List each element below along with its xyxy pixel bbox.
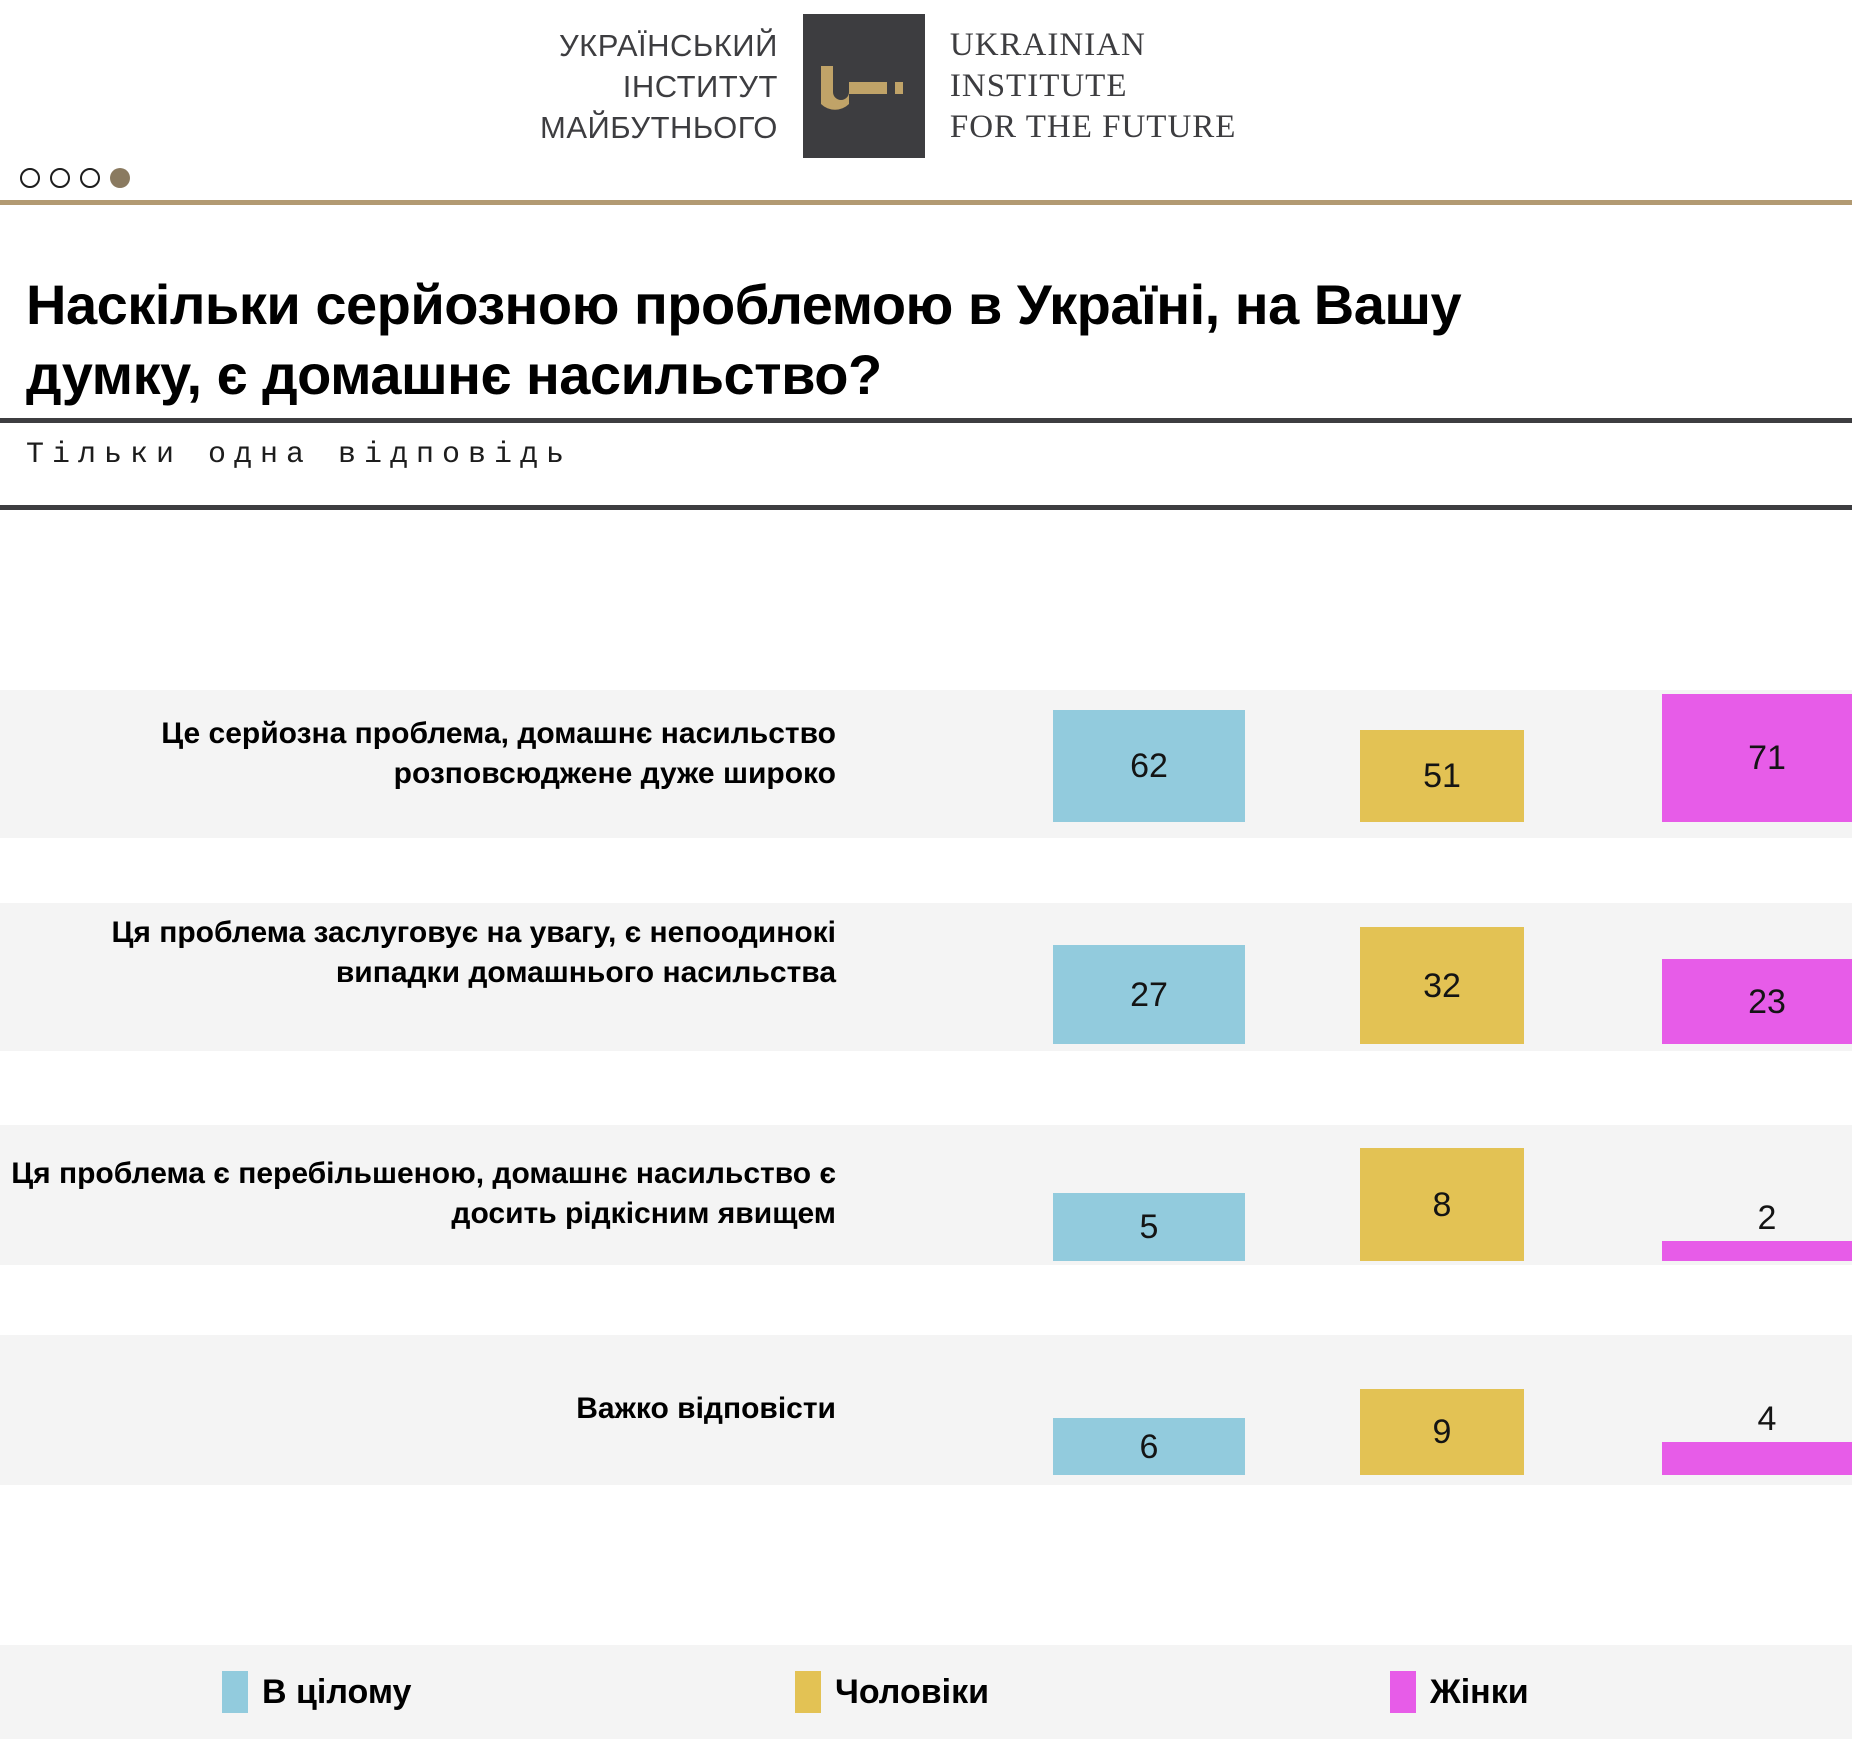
- bar-men: 51: [1360, 730, 1524, 822]
- page-title: Наскільки серйозною проблемою в Україні,…: [26, 270, 1586, 410]
- bar-value: 27: [1130, 978, 1168, 1012]
- bar-value: 4: [1758, 1402, 1777, 1436]
- bar-women: 2: [1662, 1241, 1852, 1261]
- bar-value: 62: [1130, 749, 1168, 783]
- bar-value: 2: [1758, 1201, 1777, 1235]
- brand-name-ua-line-3: Майбутнього: [540, 107, 778, 148]
- legend-item-men[interactable]: Чоловіки: [795, 1671, 989, 1713]
- bar-women: 23: [1662, 959, 1852, 1044]
- bar-value: 51: [1423, 759, 1461, 793]
- bar-overall: 27: [1053, 945, 1245, 1044]
- bar-men: 9: [1360, 1389, 1524, 1475]
- answer-instruction: Тільки одна відповідь: [26, 438, 572, 472]
- legend-swatch-overall: [222, 1671, 248, 1713]
- legend-label: Чоловіки: [835, 1673, 989, 1712]
- brand-mark: [803, 14, 925, 158]
- chart-row: Це серйозна проблема, домашнє насильство…: [0, 690, 1852, 838]
- row-label: Важко відповісти: [0, 1389, 836, 1429]
- bar-overall: 5: [1053, 1193, 1245, 1261]
- bar-men: 32: [1360, 927, 1524, 1044]
- brand-name-en-line-1: Ukrainian: [950, 25, 1237, 66]
- row-label: Ця проблема є перебільшеною, домашнє нас…: [0, 1154, 836, 1234]
- brand-name-en-line-3: for the Future: [950, 107, 1237, 148]
- title-divider-top: [0, 418, 1852, 423]
- bar-women: 4: [1662, 1442, 1852, 1475]
- chart-legend: В цілому Чоловіки Жінки: [0, 1645, 1852, 1739]
- brand-name-ua-line-1: Український: [540, 25, 778, 66]
- brand-name-en-line-2: Institute: [950, 66, 1237, 107]
- row-label: Це серйозна проблема, домашнє насильство…: [0, 714, 836, 794]
- grouped-bar-chart: Це серйозна проблема, домашнє насильство…: [0, 520, 1852, 1680]
- row-label: Ця проблема заслуговує на увагу, є непоо…: [0, 913, 836, 993]
- bar-value: 23: [1748, 985, 1786, 1019]
- bar-value: 9: [1433, 1415, 1452, 1449]
- brand-name-ukrainian: Український Інститут Майбутнього: [540, 25, 803, 148]
- brand-name-english: Ukrainian Institute for the Future: [925, 25, 1237, 148]
- slide-pager[interactable]: [20, 168, 130, 188]
- bar-value: 71: [1748, 741, 1786, 775]
- bar-value: 32: [1423, 969, 1461, 1003]
- bar-women: 71: [1662, 694, 1852, 822]
- brand-logo: Український Інститут Майбутнього Ukraini…: [540, 14, 1236, 158]
- legend-label: Жінки: [1430, 1673, 1529, 1712]
- bar-value: 5: [1140, 1210, 1159, 1244]
- pager-dot-1[interactable]: [20, 168, 40, 188]
- pager-dot-4-active[interactable]: [110, 168, 130, 188]
- bar-value: 6: [1140, 1430, 1159, 1464]
- legend-swatch-women: [1390, 1671, 1416, 1713]
- pager-dot-3[interactable]: [80, 168, 100, 188]
- legend-item-women[interactable]: Жінки: [1390, 1671, 1529, 1713]
- bar-value: 8: [1433, 1188, 1452, 1222]
- legend-swatch-men: [795, 1671, 821, 1713]
- title-divider-bottom: [0, 505, 1852, 510]
- page-header: Український Інститут Майбутнього Ukraini…: [0, 0, 1852, 172]
- chart-row: Ця проблема заслуговує на увагу, є непоо…: [0, 903, 1852, 1051]
- bar-overall: 62: [1053, 710, 1245, 822]
- header-divider-tan: [0, 200, 1852, 205]
- chart-row: Важко відповісти 6 9 4: [0, 1335, 1852, 1485]
- legend-item-overall[interactable]: В цілому: [222, 1671, 411, 1713]
- legend-label: В цілому: [262, 1673, 411, 1712]
- brand-name-ua-line-2: Інститут: [540, 66, 778, 107]
- chart-row: Ця проблема є перебільшеною, домашнє нас…: [0, 1125, 1852, 1265]
- bar-men: 8: [1360, 1148, 1524, 1261]
- bar-overall: 6: [1053, 1418, 1245, 1475]
- pager-dot-2[interactable]: [50, 168, 70, 188]
